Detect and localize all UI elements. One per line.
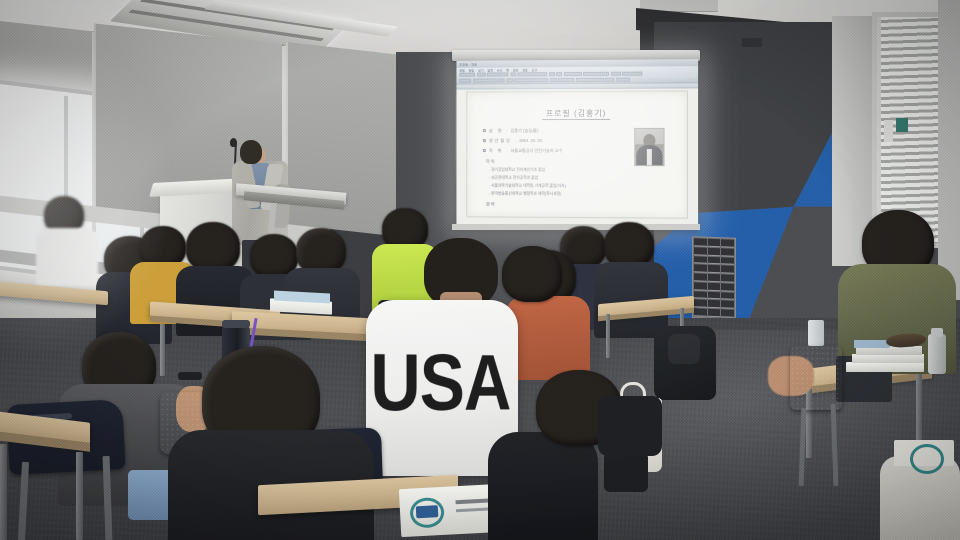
- field-value: 1964. 02. 03.: [519, 138, 543, 143]
- slide-field-list: 성 명 : 김홍기 (金弘基) 생년월일 : 1964. 02. 03. 직 위…: [483, 128, 608, 209]
- rack-slot: [721, 248, 734, 256]
- window-latch: [884, 120, 893, 142]
- app-toolbar[interactable]: [459, 71, 695, 83]
- book-stack-item: [846, 362, 924, 372]
- toolbar-button[interactable]: [605, 77, 614, 81]
- education-item-1: 성균관대학교 전자공학과 졸업: [489, 176, 608, 181]
- field-label: 성 명: [489, 128, 504, 134]
- rack-slot: [694, 291, 707, 299]
- bullet-icon: [483, 129, 486, 132]
- desk-leg: [76, 452, 83, 540]
- toolbar-button[interactable]: [459, 73, 475, 77]
- rack-slot: [708, 265, 721, 273]
- booklet-logo-icon-2: [910, 444, 944, 474]
- water-bottle-cap: [931, 328, 943, 337]
- toolbar-button[interactable]: [459, 78, 471, 82]
- field-value: 김홍기 (金弘基): [511, 128, 539, 134]
- window-sticker: [896, 118, 908, 132]
- rack-slot: [708, 274, 721, 282]
- rack-slot: [708, 239, 721, 247]
- slide-title: 프로필 (김홍기): [467, 108, 687, 120]
- rack-slot: [721, 292, 734, 300]
- presenter-head: [240, 140, 262, 164]
- rack-slot: [694, 247, 707, 255]
- bullet-icon: [483, 139, 486, 142]
- rack-slot: [708, 300, 721, 308]
- toolbar-button[interactable]: [487, 72, 509, 76]
- app-ribbon: 파일 편집 보기 입력 서식 쪽 보안 검토 도구: [456, 66, 698, 84]
- usa-shirt-text: USA: [364, 350, 516, 418]
- field-value: 서울교통공사 안전기술처 교수: [511, 148, 563, 154]
- rack-slot: [721, 274, 734, 282]
- education-item-2: 서울과학기술대학교 대학원 기계공학 졸업(석사): [489, 184, 608, 189]
- rack-slot: [694, 300, 707, 308]
- slide-field-position: 직 위 : 서울교통공사 안전기술처 교수: [483, 148, 608, 154]
- rack-slot: [708, 248, 721, 256]
- toolbar-button[interactable]: [576, 77, 604, 81]
- wristband: [178, 372, 202, 380]
- toolbar-button[interactable]: [622, 72, 642, 76]
- slide-field-name: 성 명 : 김홍기 (金弘基): [483, 128, 608, 134]
- toolbar-button[interactable]: [564, 72, 582, 76]
- rack-slot: [721, 257, 734, 265]
- toolbar-row-1[interactable]: [459, 71, 695, 76]
- toolbar-row-2[interactable]: [459, 77, 695, 82]
- rack-slot: [708, 291, 721, 299]
- toolbar-button[interactable]: [506, 78, 513, 82]
- field-separator: :: [506, 148, 507, 153]
- app-title-text: 프로필 - 한글: [459, 62, 477, 66]
- tumbler-right: [808, 320, 824, 346]
- rack-slot: [694, 265, 707, 273]
- field-label: 생년월일: [489, 138, 512, 144]
- rack-slot: [694, 256, 707, 264]
- toolbar-button[interactable]: [583, 72, 609, 76]
- student-head-10: [502, 246, 562, 304]
- slide-section-education: 학 력: [483, 158, 608, 164]
- toolbar-button[interactable]: [558, 78, 574, 82]
- bullet-icon: [483, 149, 486, 152]
- app-format-bar: [456, 83, 698, 89]
- water-bottle: [928, 334, 946, 374]
- bag-floor-center: [598, 396, 662, 456]
- toolbar-button[interactable]: [473, 78, 497, 82]
- rack-slot: [721, 239, 734, 247]
- student-torso-orange: [506, 296, 590, 380]
- section-label: 경 력: [486, 202, 495, 208]
- rack-slot: [708, 283, 721, 291]
- section-label: 학 력: [486, 158, 495, 164]
- toolbar-button[interactable]: [514, 78, 548, 82]
- chair-right: [790, 346, 842, 410]
- desk-leg: [0, 444, 7, 540]
- rack-slot: [721, 283, 734, 291]
- desk-leg: [160, 324, 165, 376]
- tumbler-lid: [222, 320, 250, 328]
- book-stack-item: [852, 354, 924, 363]
- slide-field-birthdate: 생년월일 : 1964. 02. 03.: [483, 138, 608, 144]
- field-separator: :: [506, 128, 507, 133]
- toolbar-button[interactable]: [616, 77, 630, 81]
- rack-slot: [708, 256, 721, 264]
- book-blue: [854, 340, 890, 348]
- wall-speaker-icon: [742, 38, 762, 47]
- toolbar-button[interactable]: [556, 72, 562, 76]
- wall-far-right: [938, 0, 960, 300]
- field-label: 직 위: [489, 148, 504, 154]
- education-item-0: 경기공업대학교 전자계산기과 졸업: [489, 167, 608, 172]
- rack-slot: [694, 273, 707, 281]
- bag-dark-floor: [604, 452, 648, 492]
- wall-nameplate-rack: [692, 236, 736, 320]
- field-separator: :: [515, 138, 516, 143]
- slide-canvas: 프로필 (김홍기) 성 명 : 김홍기 (金弘基) 생년월일 : 1964. 0…: [466, 90, 688, 218]
- slide-portrait-photo: [634, 128, 664, 166]
- education-item-3: 한국방송통신대학교 행정학과 재학(학사과정): [489, 192, 608, 198]
- classroom-photo: 프로필 - 한글 파일 편집 보기 입력 서식 쪽 보안 검토 도구: [0, 0, 960, 540]
- toolbar-button[interactable]: [611, 72, 621, 76]
- rack-slot: [708, 309, 721, 317]
- toolbar-button[interactable]: [477, 73, 486, 77]
- slide-section-career: 경 력: [483, 202, 608, 209]
- rack-slot: [694, 238, 707, 246]
- backpack-pocket: [668, 334, 700, 364]
- rack-slot: [721, 309, 734, 317]
- toolbar-button[interactable]: [549, 72, 555, 76]
- student-torso-white-1: [36, 228, 98, 286]
- rack-slot: [721, 266, 734, 274]
- slide-title-text: 프로필 (김홍기): [542, 109, 611, 120]
- toolbar-button[interactable]: [510, 72, 516, 76]
- toolbar-button[interactable]: [498, 78, 505, 82]
- desk-leg: [606, 314, 610, 358]
- student-torso-foreground-right: [488, 432, 598, 540]
- rack-slot: [694, 282, 707, 290]
- booklet-logo-block: [416, 505, 439, 518]
- projection-screen: 프로필 - 한글 파일 편집 보기 입력 서식 쪽 보안 검토 도구: [456, 59, 698, 229]
- toolbar-button[interactable]: [517, 72, 547, 76]
- toolbar-button[interactable]: [550, 78, 557, 82]
- rack-slot: [721, 301, 734, 309]
- rack-slot: [694, 309, 707, 317]
